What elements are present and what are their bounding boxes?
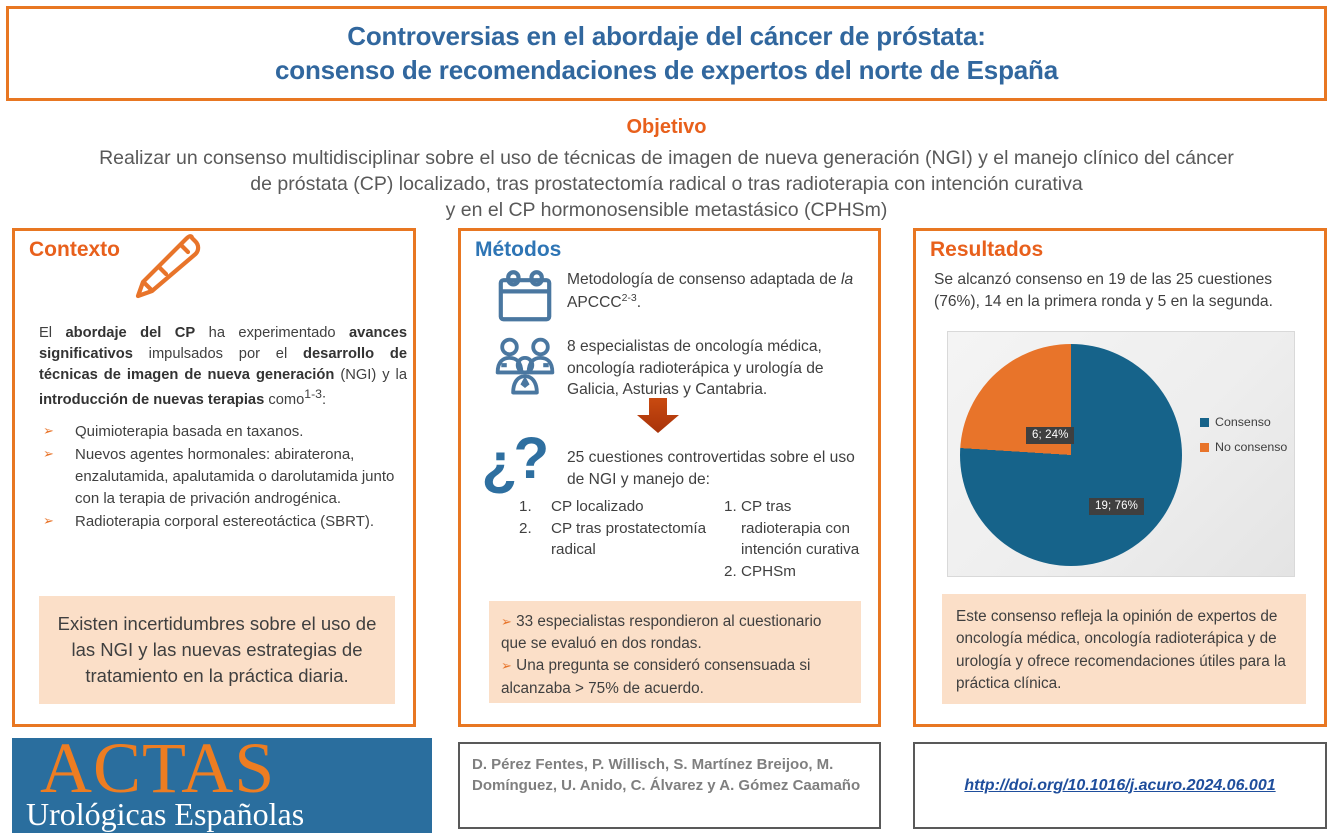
objetivo-heading: Objetivo bbox=[6, 116, 1327, 139]
metodos-numbered-col-2: 1. CP tras radioterapia con intención cu… bbox=[724, 496, 874, 582]
arrow-bullet-icon: ➢ bbox=[501, 614, 512, 629]
list-item: 2. CP tras prostatectomía radical bbox=[519, 518, 716, 561]
svg-text:¿: ¿ bbox=[481, 432, 517, 495]
pie-slice-label-consenso: 19; 76% bbox=[1089, 498, 1144, 515]
contexto-par-t2: ha experimentado bbox=[195, 325, 349, 341]
legend-label-consenso: Consenso bbox=[1215, 415, 1271, 429]
legend-swatch-consenso bbox=[1200, 418, 1209, 427]
metodos-callout-item-2-label: Una pregunta se consideró consensuada si… bbox=[501, 657, 810, 696]
panel-metodos: Métodos Metodología de consenso adaptada… bbox=[458, 228, 881, 727]
list-item: 2. CPHSm bbox=[724, 561, 874, 583]
list-item-label: CP localizado bbox=[551, 496, 644, 518]
metodos-row-2-text: 8 especialistas de oncología médica, onc… bbox=[567, 336, 878, 401]
page-title-line-2: consenso de recomendaciones de expertos … bbox=[275, 54, 1058, 87]
contexto-par-b4: introducción de nuevas terapias bbox=[39, 392, 264, 408]
contexto-callout: Existen incertidumbres sobre el uso de l… bbox=[39, 596, 395, 704]
metodos-r1-pre: Metodología de consenso adaptada de bbox=[567, 271, 841, 288]
pie-slice-label-no-consenso: 6; 24% bbox=[1026, 427, 1074, 444]
chart-legend: Consenso No consenso bbox=[1200, 415, 1287, 465]
list-item-number: 2. bbox=[724, 561, 741, 583]
objetivo-body: Realizar un consenso multidisciplinar so… bbox=[6, 145, 1327, 223]
contexto-par-t3: impulsados por el bbox=[133, 346, 303, 362]
legend-swatch-no-consenso bbox=[1200, 443, 1209, 452]
svg-text:?: ? bbox=[513, 431, 549, 491]
logo-main-text: ACTAS bbox=[40, 738, 275, 804]
pie-chart-graphic bbox=[960, 344, 1182, 566]
arrow-bullet-icon: ➢ bbox=[41, 444, 75, 510]
contexto-par-t5: como bbox=[264, 392, 304, 408]
doi-link[interactable]: http://doi.org/10.1016/j.acuro.2024.06.0… bbox=[964, 777, 1275, 795]
list-item: 1. CP tras radioterapia con intención cu… bbox=[724, 496, 874, 561]
legend-item-no-consenso: No consenso bbox=[1200, 440, 1287, 454]
list-item-number: 2. bbox=[519, 518, 551, 561]
arrow-bullet-icon: ➢ bbox=[41, 421, 75, 443]
arrow-bullet-icon: ➢ bbox=[501, 658, 512, 673]
metodos-row-1: Metodología de consenso adaptada de la A… bbox=[483, 269, 873, 323]
list-item-label: CP tras prostatectomía radical bbox=[551, 518, 716, 561]
metodos-row-1-text: Metodología de consenso adaptada de la A… bbox=[567, 269, 873, 323]
contexto-par-t1: El bbox=[39, 325, 66, 341]
metodos-row-3-text: 25 cuestiones controvertidas sobre el us… bbox=[567, 431, 875, 495]
resultados-callout: Este consenso refleja la opinión de expe… bbox=[942, 594, 1306, 704]
list-item-label: CP tras radioterapia con intención curat… bbox=[741, 496, 874, 561]
arrow-bullet-icon: ➢ bbox=[41, 511, 75, 533]
metodos-callout-item-1-label: 33 especialistas respondieron al cuestio… bbox=[501, 613, 821, 652]
authors-box: D. Pérez Fentes, P. Willisch, S. Martíne… bbox=[458, 742, 881, 829]
contexto-paragraph: El abordaje del CP ha experimentado avan… bbox=[39, 323, 407, 410]
list-item-label: Radioterapia corporal estereotáctica (SB… bbox=[75, 511, 413, 533]
metodos-row-3: ¿ ? 25 cuestiones controvertidas sobre e… bbox=[475, 431, 875, 495]
page-title-line-1: Controversias en el abordaje del cáncer … bbox=[275, 20, 1058, 53]
list-item-label: Nuevos agentes hormonales: abiraterona, … bbox=[75, 444, 413, 510]
objetivo-section: Objetivo Realizar un consenso multidisci… bbox=[6, 110, 1327, 220]
poster-root: Controversias en el abordaje del cáncer … bbox=[0, 0, 1333, 833]
list-item: 1. CP localizado bbox=[519, 496, 716, 518]
metodos-r1-sup: 2-3 bbox=[622, 292, 637, 304]
metodos-r1-italic: la bbox=[841, 271, 853, 288]
legend-label-no-consenso: No consenso bbox=[1215, 440, 1287, 454]
list-item-label: CPHSm bbox=[741, 561, 874, 583]
metodos-numbered-col-1: 1. CP localizado 2. CP tras prostatectom… bbox=[519, 496, 716, 582]
pie-chart: 6; 24% 19; 76% Consenso No consenso bbox=[947, 331, 1295, 577]
panel-resultados: Resultados Se alcanzó consenso en 19 de … bbox=[913, 228, 1327, 727]
contexto-par-b1: abordaje del CP bbox=[66, 325, 196, 341]
list-item: ➢ Quimioterapia basada en taxanos. bbox=[41, 421, 413, 443]
logo-subtitle-text: Urológicas Españolas bbox=[26, 798, 304, 830]
question-mark-icon: ¿ ? bbox=[475, 431, 567, 495]
contexto-bullet-list: ➢ Quimioterapia basada en taxanos. ➢ Nue… bbox=[41, 421, 413, 534]
doi-box: http://doi.org/10.1016/j.acuro.2024.06.0… bbox=[913, 742, 1327, 829]
list-item-number: 1. bbox=[724, 496, 741, 561]
metodos-callout: ➢ 33 especialistas respondieron al cuest… bbox=[489, 601, 861, 703]
objetivo-line-3: y en el CP hormonosensible metastásico (… bbox=[34, 197, 1299, 223]
legend-item-consenso: Consenso bbox=[1200, 415, 1287, 429]
down-arrow-icon bbox=[636, 398, 680, 434]
metodos-heading: Métodos bbox=[475, 238, 878, 262]
metodos-callout-item-1: ➢ 33 especialistas respondieron al cuest… bbox=[501, 611, 849, 655]
page-title: Controversias en el abordaje del cáncer … bbox=[275, 20, 1058, 87]
metodos-callout-item-2: ➢ Una pregunta se consideró consensuada … bbox=[501, 655, 849, 699]
list-item-label: Quimioterapia basada en taxanos. bbox=[75, 421, 413, 443]
calendar-icon bbox=[483, 269, 567, 323]
list-item-number: 1. bbox=[519, 496, 551, 518]
metodos-r1-end: . bbox=[637, 294, 641, 311]
contexto-par-t4: (NGI) y la bbox=[334, 367, 407, 383]
actas-journal-logo: ACTAS Urológicas Españolas bbox=[12, 738, 432, 833]
metodos-numbered-lists: 1. CP localizado 2. CP tras prostatectom… bbox=[519, 496, 874, 582]
list-item: ➢ Radioterapia corporal estereotáctica (… bbox=[41, 511, 413, 533]
people-group-icon bbox=[483, 336, 567, 401]
authors-list: D. Pérez Fentes, P. Willisch, S. Martíne… bbox=[472, 754, 867, 797]
contexto-par-sup: 1-3 bbox=[304, 387, 322, 401]
resultados-heading: Resultados bbox=[930, 238, 1324, 262]
objetivo-line-2: de próstata (CP) localizado, tras prosta… bbox=[34, 171, 1299, 197]
objetivo-line-1: Realizar un consenso multidisciplinar so… bbox=[34, 145, 1299, 171]
metodos-r1-post: APCCC bbox=[567, 294, 622, 311]
contexto-heading: Contexto bbox=[29, 238, 413, 262]
poster-title-box: Controversias en el abordaje del cáncer … bbox=[6, 6, 1327, 101]
resultados-lead-text: Se alcanzó consenso en 19 de las 25 cues… bbox=[934, 269, 1319, 313]
panel-contexto: Contexto El abordaje del CP ha experimen… bbox=[12, 228, 416, 727]
contexto-par-t6: : bbox=[322, 392, 326, 408]
list-item: ➢ Nuevos agentes hormonales: abiraterona… bbox=[41, 444, 413, 510]
metodos-row-2: 8 especialistas de oncología médica, onc… bbox=[483, 336, 878, 401]
